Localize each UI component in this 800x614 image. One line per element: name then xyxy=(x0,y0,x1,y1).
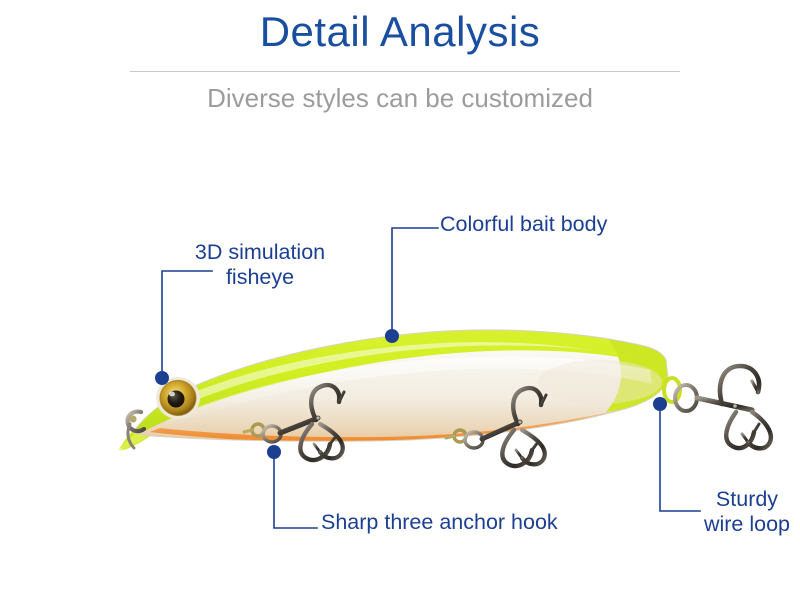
dot-sharp-three-anchor-hook xyxy=(267,445,281,459)
leader-sturdy-wire-loop xyxy=(660,404,700,511)
dot-colorful-bait-body xyxy=(385,329,399,343)
callout-fisheye-line2: fisheye xyxy=(182,265,338,290)
callout-label-sharp-three-anchor-hook: Sharp three anchor hook xyxy=(321,510,558,535)
leader-colorful-bait-body xyxy=(392,228,438,336)
tail-treble-hook xyxy=(697,366,771,448)
dot-fisheye xyxy=(155,371,169,385)
tail-wire-loop xyxy=(664,378,697,411)
lure-body xyxy=(120,328,676,452)
callout-label-sturdy-wire-loop: Sturdy wire loop xyxy=(697,487,797,537)
callout-sharp-three-anchor-hook-line1: Sharp three anchor hook xyxy=(321,510,558,535)
callout-label-colorful-bait-body: Colorful bait body xyxy=(440,212,607,237)
callout-sturdy-wire-loop-line2: wire loop xyxy=(697,512,797,537)
dot-sturdy-wire-loop xyxy=(653,397,667,411)
callout-colorful-bait-body-line1: Colorful bait body xyxy=(440,212,607,237)
callout-sturdy-wire-loop-line1: Sturdy xyxy=(697,487,797,512)
infographic-canvas: Detail Analysis Diverse styles can be cu… xyxy=(0,0,800,614)
leader-sharp-three-anchor-hook xyxy=(274,452,317,528)
callout-fisheye-line1: 3D simulation xyxy=(182,240,338,265)
callout-label-fisheye: 3D simulation fisheye xyxy=(182,240,338,290)
